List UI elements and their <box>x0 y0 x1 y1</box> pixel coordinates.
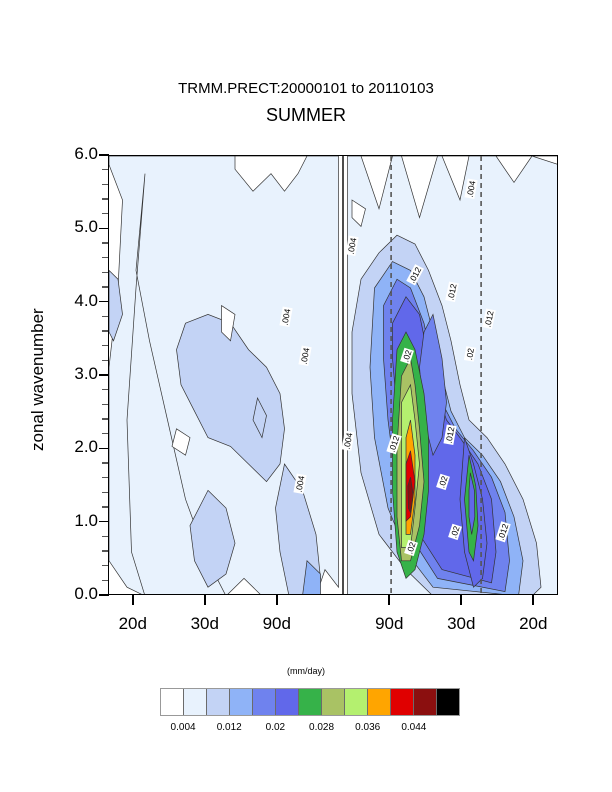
colorbar-cell[interactable] <box>391 689 414 715</box>
x-tick-label: 20d <box>503 614 563 634</box>
colorbar-cell[interactable] <box>437 689 459 715</box>
x-tick-label: 30d <box>175 614 235 634</box>
x-tick-label: 90d <box>247 614 307 634</box>
y-tick-label: 1.0 <box>52 511 98 531</box>
y-axis-label: zonal wavenumber <box>26 250 50 510</box>
figure-root: TRMM.PRECT:20000101 to 20110103 SUMMER z… <box>0 0 612 792</box>
y-tick-label: 0.0 <box>52 584 98 604</box>
colorbar-cell[interactable] <box>368 689 391 715</box>
colorbar-cell[interactable] <box>184 689 207 715</box>
colorbar-units-label: (mm/day) <box>0 666 612 676</box>
x-tick-major <box>388 594 390 605</box>
y-tick-label: 6.0 <box>52 144 98 164</box>
colorbar-cell[interactable] <box>299 689 322 715</box>
x-tick-major <box>276 594 278 605</box>
contour-plot-panel: .004.004.004.004.004.004.012.012.012.012… <box>108 155 558 595</box>
colorbar-cell[interactable] <box>414 689 437 715</box>
y-tick-label: 5.0 <box>52 217 98 237</box>
x-tick-major <box>132 594 134 605</box>
x-tick-label: 90d <box>359 614 419 634</box>
colorbar[interactable] <box>160 688 460 716</box>
x-tick-label: 20d <box>103 614 163 634</box>
y-tick-label: 3.0 <box>52 364 98 384</box>
figure-title: TRMM.PRECT:20000101 to 20110103 <box>0 80 612 97</box>
x-tick-label: 30d <box>431 614 491 634</box>
colorbar-cell[interactable] <box>322 689 345 715</box>
colorbar-cell[interactable] <box>230 689 253 715</box>
x-tick-major <box>460 594 462 605</box>
x-tick-major <box>532 594 534 605</box>
x-tick-major <box>204 594 206 605</box>
colorbar-tick-label: 0.044 <box>386 722 442 733</box>
colorbar-cell[interactable] <box>345 689 368 715</box>
y-tick-label: 2.0 <box>52 437 98 457</box>
colorbar-cell[interactable] <box>276 689 299 715</box>
contour-field <box>109 156 558 595</box>
colorbar-cell[interactable] <box>207 689 230 715</box>
y-tick-label: 4.0 <box>52 291 98 311</box>
figure-subtitle: SUMMER <box>0 105 612 126</box>
colorbar-cell[interactable] <box>161 689 184 715</box>
colorbar-cell[interactable] <box>253 689 276 715</box>
